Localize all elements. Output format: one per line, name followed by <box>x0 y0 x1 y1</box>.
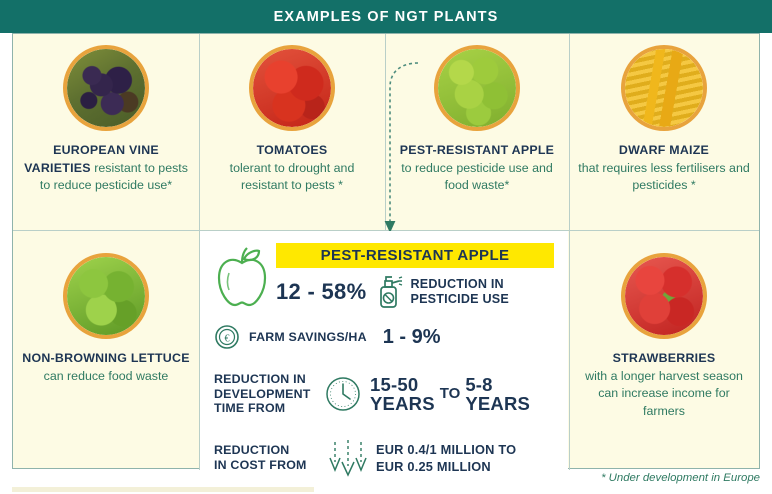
panel-banner-title: PEST-RESISTANT APPLE <box>276 243 554 268</box>
cell-caption: STRAWBERRIESwith a longer harvest season… <box>569 350 759 420</box>
cost-from: EUR 0.4/1 MILLION <box>376 442 495 457</box>
cell-desc: with a longer harvest season can increas… <box>585 369 743 418</box>
dev-to-unit: YEARS <box>465 393 530 414</box>
dev-from-number: 15-50 <box>370 374 418 395</box>
cell-desc: can reduce food waste <box>44 369 169 383</box>
tomatoes-photo <box>249 45 335 131</box>
development-time-label: REDUCTION IN DEVELOPMENT TIME FROM <box>214 372 318 416</box>
cell-caption: DWARF MAIZEthat requires less fertiliser… <box>569 142 759 195</box>
cost-label-line2: IN COST FROM <box>214 458 307 472</box>
development-time-values: 15-50 YEARS TO 5-8 YEARS <box>370 375 530 413</box>
cell-title: NON-BROWNING LETTUCE <box>22 351 189 365</box>
grapes-photo <box>63 45 149 131</box>
cell-title: STRAWBERRIES <box>613 351 716 365</box>
cell-non-browning-lettuce: NON-BROWNING LETTUCEcan reduce food wast… <box>13 231 199 469</box>
farm-savings-row: € FARM SAVINGS/HA 1 - 9% <box>214 317 554 357</box>
pesticide-label-line1: REDUCTION IN <box>410 277 503 291</box>
cost-to: EUR 0.25 MILLION <box>376 459 491 474</box>
cell-strawberries: STRAWBERRIESwith a longer harvest season… <box>569 231 759 469</box>
pesticide-reduction-row: 12 - 58% REDUCTION IN PESTICIDE USE <box>276 275 554 309</box>
maize-photo <box>621 45 707 131</box>
apple-outline-icon <box>214 247 270 309</box>
farm-savings-value: 1 - 9% <box>383 326 441 349</box>
dev-label-line1: REDUCTION IN <box>214 372 306 386</box>
dev-to-number: 5-8 <box>465 374 492 395</box>
cell-caption: EUROPEAN VINE VARIETIES resistant to pes… <box>13 142 199 195</box>
pesticide-reduction-label: REDUCTION IN PESTICIDE USE <box>410 277 508 308</box>
page-title: EXAMPLES OF NGT PLANTS <box>0 0 772 33</box>
cell-title: TOMATOES <box>257 143 328 157</box>
dev-label-line2: DEVELOPMENT <box>214 387 311 401</box>
lettuce-photo <box>63 253 149 339</box>
pest-resistant-apple-detail-panel: PEST-RESISTANT APPLE 12 - 58% REDUCTION … <box>200 231 568 469</box>
dev-label-line3: TIME FROM <box>214 401 285 415</box>
apples-photo <box>434 45 520 131</box>
cell-title: PEST-RESISTANT APPLE <box>400 143 554 157</box>
cell-caption: NON-BROWNING LETTUCEcan reduce food wast… <box>14 350 197 385</box>
clock-icon <box>324 375 362 413</box>
development-to-word: TO <box>440 385 461 402</box>
pesticide-label-line2: PESTICIDE USE <box>410 292 508 306</box>
cost-label-line1: REDUCTION <box>214 443 289 457</box>
cell-desc: tolerant to drought and resistant to pes… <box>230 161 355 193</box>
cell-desc: that requires less fertilisers and pesti… <box>578 161 749 193</box>
cell-desc: to reduce pesticide use and food waste* <box>401 161 553 193</box>
development-time-from: 15-50 YEARS <box>370 375 435 413</box>
footnote: * Under development in Europe <box>601 472 760 484</box>
down-arrows-icon <box>326 438 370 478</box>
dev-from-unit: YEARS <box>370 393 435 414</box>
cell-european-vine-varieties: EUROPEAN VINE VARIETIES resistant to pes… <box>13 34 199 230</box>
cost-to-word: TO <box>498 442 516 457</box>
cost-reduction-label: REDUCTION IN COST FROM <box>214 443 318 472</box>
panel-top-section: PEST-RESISTANT APPLE 12 - 58% REDUCTION … <box>214 243 554 309</box>
cell-caption: PEST-RESISTANT APPLE to reduce pesticide… <box>385 142 569 195</box>
cost-reduction-row: REDUCTION IN COST FROM EUR 0.4/1 MILLION… <box>214 431 554 485</box>
svg-text:€: € <box>225 334 230 345</box>
development-time-to: 5-8 YEARS <box>465 375 530 413</box>
strawberries-photo <box>621 253 707 339</box>
panel-top-right: PEST-RESISTANT APPLE 12 - 58% REDUCTION … <box>276 243 554 309</box>
cell-caption: TOMATOEStolerant to drought and resistan… <box>199 142 385 195</box>
cost-reduction-values: EUR 0.4/1 MILLION TO EUR 0.25 MILLION <box>376 441 516 475</box>
cell-title: DWARF MAIZE <box>619 143 709 157</box>
sprayer-icon <box>375 275 403 309</box>
pesticide-reduction-value: 12 - 58% <box>276 279 366 305</box>
euro-circle-icon: € <box>214 324 240 350</box>
header-bar: EXAMPLES OF NGT PLANTS <box>0 0 772 33</box>
farm-savings-label: FARM SAVINGS/HA <box>249 330 367 345</box>
bottom-accent-bar <box>12 487 314 492</box>
infographic: EXAMPLES OF NGT PLANTS EUROPEAN VINE VAR… <box>0 0 772 494</box>
cell-dwarf-maize: DWARF MAIZEthat requires less fertiliser… <box>569 34 759 230</box>
cell-pest-resistant-apple: PEST-RESISTANT APPLE to reduce pesticide… <box>385 34 569 230</box>
development-time-row: REDUCTION IN DEVELOPMENT TIME FROM 15-50… <box>214 365 554 423</box>
cell-tomatoes: TOMATOEStolerant to drought and resistan… <box>199 34 385 230</box>
